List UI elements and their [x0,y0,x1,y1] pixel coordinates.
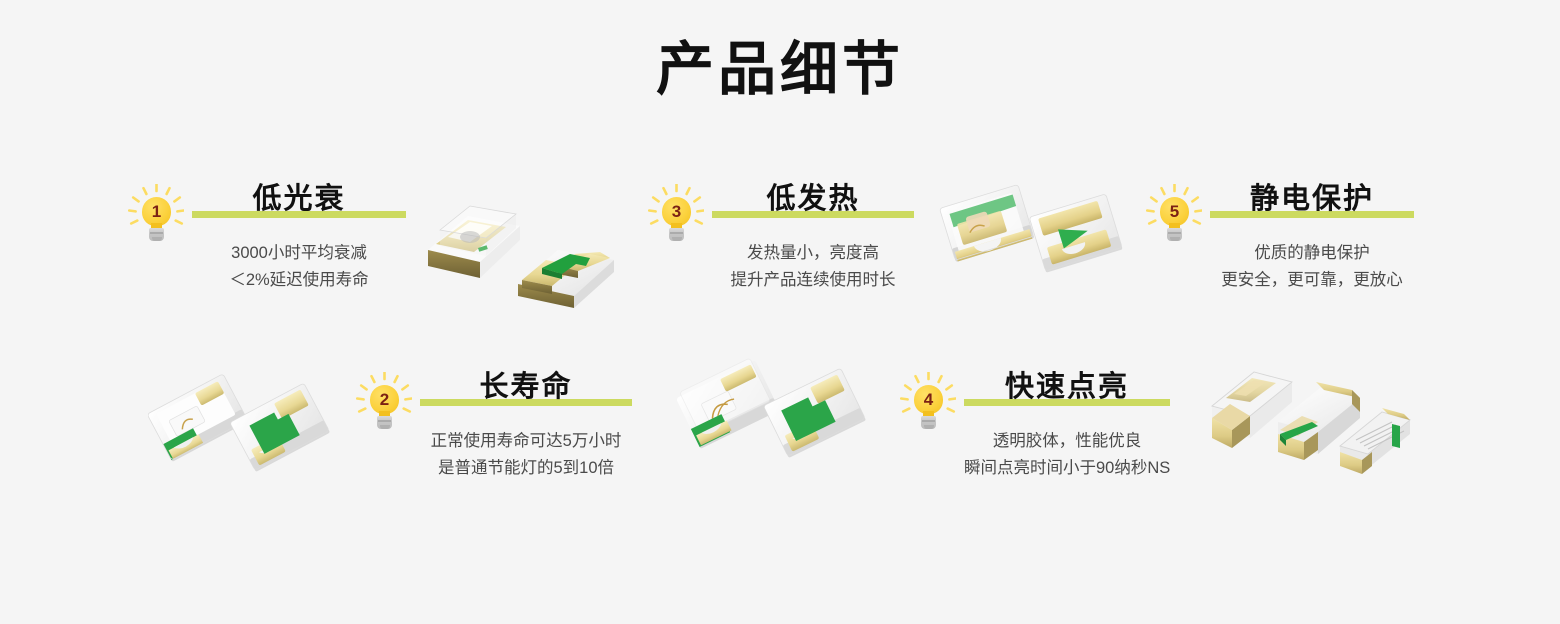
feature-number: 2 [380,391,389,408]
smd-led-render [418,180,626,310]
product-image-smd-led-pair-wire-bond [676,346,876,478]
feature-5-head: 5 静电保护 优质的静电保护 更安全，更可靠，更放心 [1146,182,1414,294]
feature-block-3: 3 低发热 发热量小，亮度高 提升产品连续使用时长 [648,182,914,294]
feature-desc-line-1: 优质的静电保护 [1210,240,1414,267]
product-image-smd-led-pair-clear-lens [418,180,626,310]
smd-led-render [148,362,334,480]
bulb-base [377,416,392,429]
feature-4-head: 4 快速点亮 透明胶体，性能优良 瞬间点亮时间小于90纳秒NS [900,370,1170,482]
lightbulb-icon-1: 1 [128,184,184,246]
feature-4-title-wrap: 快速点亮 透明胶体，性能优良 瞬间点亮时间小于90纳秒NS [964,370,1170,482]
feature-block-4: 4 快速点亮 透明胶体，性能优良 瞬间点亮时间小于90纳秒NS [900,370,1170,482]
lightbulb-icon-5: 5 [1146,184,1202,246]
product-image-smd-led-pair-green-die [148,362,334,480]
feature-desc-line-2: 是普通节能灯的5到10倍 [420,455,632,482]
feature-5-title-wrap: 静电保护 优质的静电保护 更安全，更可靠，更放心 [1210,182,1414,294]
feature-1-head: 1 低光衰 3000小时平均衰减 ＜2%延迟使用寿命 [128,182,406,294]
feature-2-head: 2 长寿命 正常使用寿命可达5万小时 是普通节能灯的5到10倍 [356,370,632,482]
feature-desc-line-1: 发热量小，亮度高 [712,240,914,267]
feature-block-5: 5 静电保护 优质的静电保护 更安全，更可靠，更放心 [1146,182,1414,294]
product-details-page: 产品细节 [0,0,1560,624]
feature-title: 低光衰 [192,182,406,216]
bulb-globe: 3 [662,197,691,226]
feature-description: 优质的静电保护 更安全，更可靠，更放心 [1210,240,1414,293]
product-image-smd-led-trio-side-view [1206,342,1416,478]
feature-desc-line-2: 提升产品连续使用时长 [712,267,914,294]
bulb-globe: 1 [142,197,171,226]
feature-desc-line-1: 3000小时平均衰减 [192,240,406,267]
smd-led-render [1206,342,1416,478]
bulb-base [669,228,684,241]
feature-number: 3 [672,203,681,220]
feature-block-1: 1 低光衰 3000小时平均衰减 ＜2%延迟使用寿命 [128,182,406,294]
lightbulb-icon-3: 3 [648,184,704,246]
smd-led-render [676,346,876,478]
feature-desc-line-1: 正常使用寿命可达5万小时 [420,428,632,455]
feature-number: 1 [152,203,161,220]
feature-number: 5 [1170,203,1179,220]
feature-description: 发热量小，亮度高 提升产品连续使用时长 [712,240,914,293]
feature-description: 正常使用寿命可达5万小时 是普通节能灯的5到10倍 [420,428,632,481]
feature-desc-line-2: ＜2%延迟使用寿命 [192,267,406,294]
feature-title: 长寿命 [420,370,632,404]
bulb-globe: 4 [914,385,943,414]
product-image-smd-led-pair-green-triangle [938,162,1136,296]
feature-3-head: 3 低发热 发热量小，亮度高 提升产品连续使用时长 [648,182,914,294]
feature-title: 低发热 [712,182,914,216]
feature-2-title-wrap: 长寿命 正常使用寿命可达5万小时 是普通节能灯的5到10倍 [420,370,632,482]
lightbulb-icon-4: 4 [900,372,956,434]
feature-title: 静电保护 [1210,182,1414,216]
feature-title: 快速点亮 [964,370,1170,404]
feature-desc-line-2: 瞬间点亮时间小于90纳秒NS [964,455,1170,482]
feature-description: 透明胶体，性能优良 瞬间点亮时间小于90纳秒NS [964,428,1170,481]
feature-description: 3000小时平均衰减 ＜2%延迟使用寿命 [192,240,406,293]
bulb-base [149,228,164,241]
feature-1-title-wrap: 低光衰 3000小时平均衰减 ＜2%延迟使用寿命 [192,182,406,294]
smd-led-render [938,162,1136,296]
feature-desc-line-1: 透明胶体，性能优良 [964,428,1170,455]
bulb-globe: 2 [370,385,399,414]
feature-number: 4 [924,391,933,408]
lightbulb-icon-2: 2 [356,372,412,434]
page-title: 产品细节 [0,38,1560,102]
bulb-globe: 5 [1160,197,1189,226]
feature-desc-line-2: 更安全，更可靠，更放心 [1210,267,1414,294]
bulb-base [1167,228,1182,241]
feature-block-2: 2 长寿命 正常使用寿命可达5万小时 是普通节能灯的5到10倍 [356,370,632,482]
feature-3-title-wrap: 低发热 发热量小，亮度高 提升产品连续使用时长 [712,182,914,294]
bulb-base [921,416,936,429]
